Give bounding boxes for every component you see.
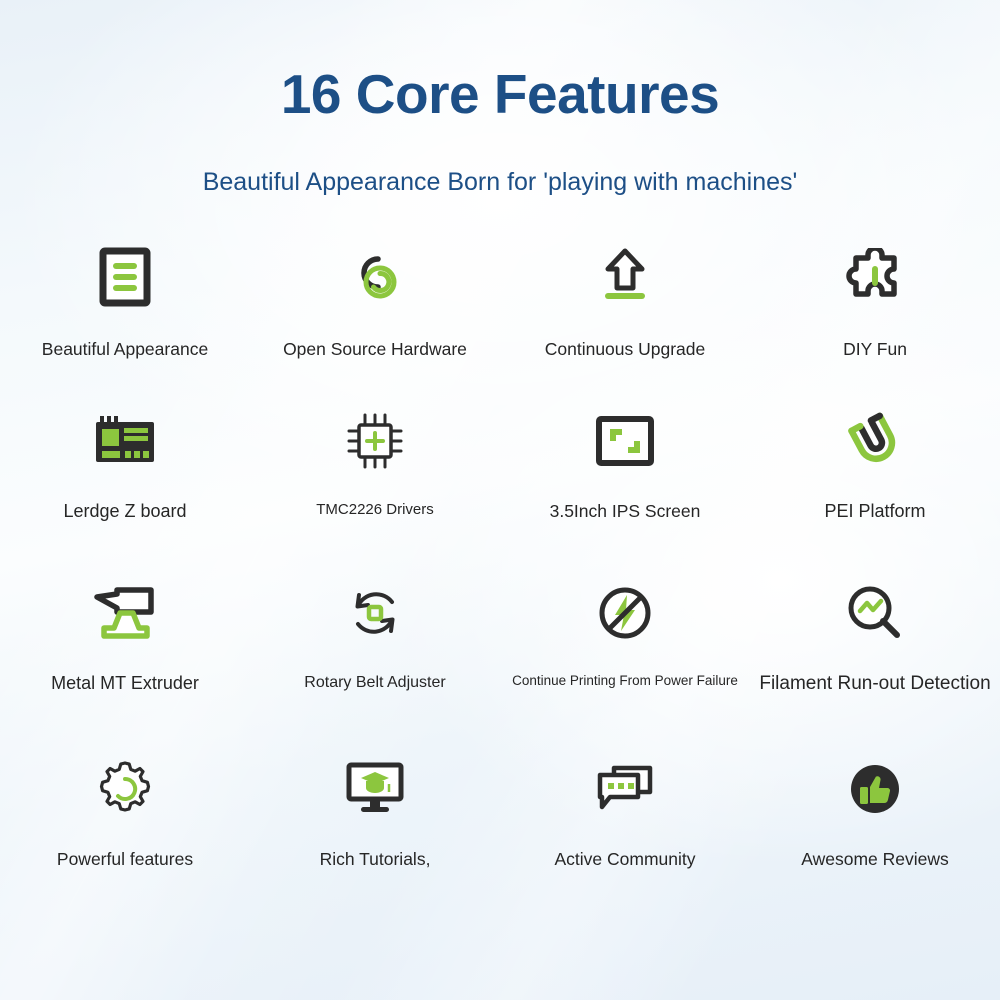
monitor-graduation-cap-icon <box>345 750 405 828</box>
feature-label: Awesome Reviews <box>801 850 949 869</box>
feature-label: Rich Tutorials, <box>320 850 431 869</box>
feature-item-active-community[interactable]: Active Community <box>500 728 750 888</box>
feature-item-lerdge-z-board[interactable]: Lerdge Z board <box>0 388 250 548</box>
features-row: Beautiful Appearance Open Source Hardwar… <box>0 228 1000 388</box>
feature-label: Active Community <box>554 850 695 869</box>
thumbs-up-icon <box>849 750 901 828</box>
chat-bubbles-icon <box>596 750 654 828</box>
feature-item-ips-screen[interactable]: 3.5Inch IPS Screen <box>500 388 750 548</box>
features-row: Powerful features Rich Tutorials, <box>0 728 1000 888</box>
feature-label: Powerful features <box>57 850 193 869</box>
feature-label: Metal MT Extruder <box>51 674 199 694</box>
feature-label: Open Source Hardware <box>283 340 467 359</box>
feature-item-rich-tutorials[interactable]: Rich Tutorials, <box>250 728 500 888</box>
circuit-board-icon <box>94 402 156 480</box>
feature-item-beautiful-appearance[interactable]: Beautiful Appearance <box>0 228 250 388</box>
magnet-icon <box>845 402 905 480</box>
page-subtitle: Beautiful Appearance Born for 'playing w… <box>0 168 1000 197</box>
feature-item-open-source-hardware[interactable]: Open Source Hardware <box>250 228 500 388</box>
feature-item-awesome-reviews[interactable]: Awesome Reviews <box>750 728 1000 888</box>
feature-item-metal-mt-extruder[interactable]: Metal MT Extruder <box>0 548 250 728</box>
page-title: 16 Core Features <box>0 62 1000 126</box>
feature-label: TMC2226 Drivers <box>316 502 434 519</box>
feature-label: Continue Printing From Power Failure <box>512 674 738 689</box>
power-failure-icon <box>597 574 653 652</box>
feature-label: 3.5Inch IPS Screen <box>550 502 701 521</box>
feature-label: DIY Fun <box>843 340 907 359</box>
screen-corners-icon <box>595 402 655 480</box>
open-source-swirl-icon <box>344 238 406 316</box>
document-lines-icon <box>97 238 153 316</box>
feature-label: Lerdge Z board <box>63 502 186 522</box>
feature-label: Filament Run-out Detection <box>759 674 990 695</box>
feature-item-pei-platform[interactable]: PEI Platform <box>750 388 1000 548</box>
upload-arrow-icon <box>597 238 653 316</box>
puzzle-piece-icon <box>846 238 904 316</box>
feature-item-filament-runout-detection[interactable]: Filament Run-out Detection <box>750 548 1000 728</box>
magnifier-signal-icon <box>846 574 904 652</box>
feature-item-tmc2226-drivers[interactable]: TMC2226 Drivers <box>250 388 500 548</box>
anvil-extruder-icon <box>87 574 163 652</box>
feature-label: Beautiful Appearance <box>42 340 208 359</box>
feature-label: Continuous Upgrade <box>545 340 706 359</box>
feature-label: PEI Platform <box>824 502 925 522</box>
cpu-chip-icon <box>346 402 404 480</box>
features-row: Lerdge Z board TMC2226 Dr <box>0 388 1000 548</box>
rotation-arrows-icon <box>346 574 404 652</box>
gear-icon <box>96 750 154 828</box>
feature-label: Rotary Belt Adjuster <box>304 674 445 692</box>
feature-item-power-failure[interactable]: Continue Printing From Power Failure <box>500 548 750 728</box>
feature-showcase-page: 16 Core Features Beautiful Appearance Bo… <box>0 0 1000 1000</box>
features-grid: Beautiful Appearance Open Source Hardwar… <box>0 228 1000 888</box>
feature-item-diy-fun[interactable]: DIY Fun <box>750 228 1000 388</box>
feature-item-rotary-belt-adjuster[interactable]: Rotary Belt Adjuster <box>250 548 500 728</box>
feature-item-powerful-features[interactable]: Powerful features <box>0 728 250 888</box>
features-row: Metal MT Extruder Rotary Belt Adjuster <box>0 548 1000 728</box>
feature-item-continuous-upgrade[interactable]: Continuous Upgrade <box>500 228 750 388</box>
